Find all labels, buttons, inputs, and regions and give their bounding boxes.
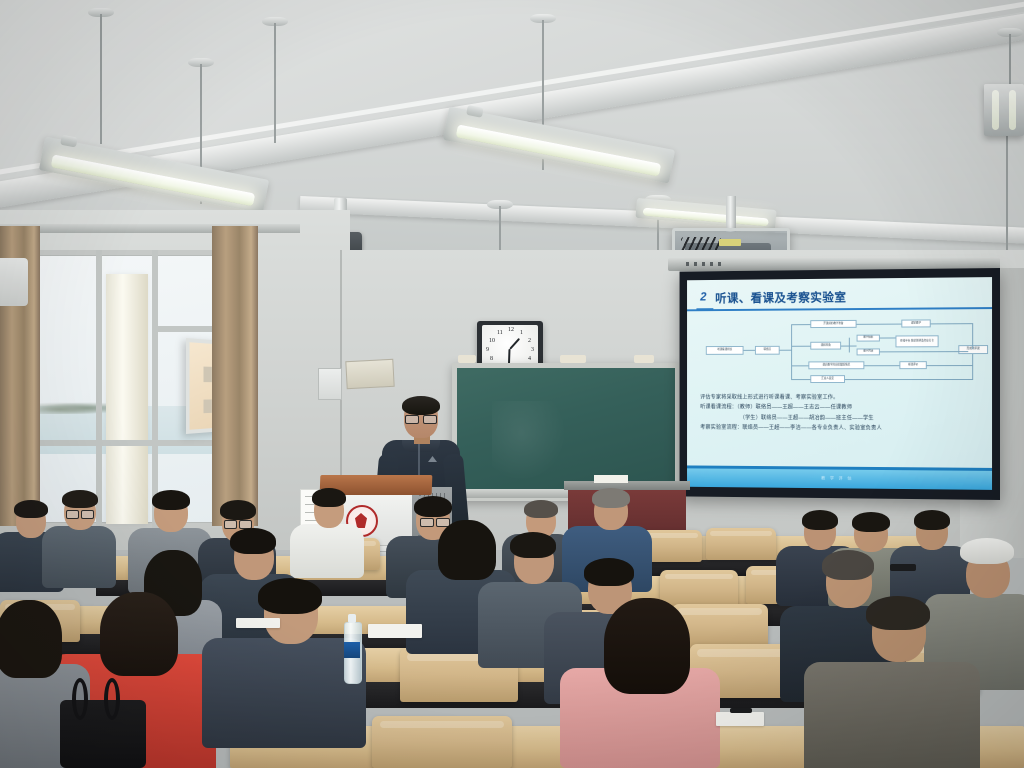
pendant-rod: [1006, 136, 1008, 260]
clock-number: 11: [497, 330, 503, 336]
flow-connector: [791, 365, 808, 366]
pendant-rod: [274, 23, 276, 143]
flow-connector: [927, 365, 972, 366]
flow-box: 课后教学的后续跟踪情况: [808, 361, 864, 369]
presenter-hair: [402, 396, 440, 415]
clock-number: 1: [520, 330, 523, 336]
eraser: [560, 355, 586, 363]
attendee-torso: [202, 638, 366, 748]
light-clip: [60, 135, 78, 148]
paper-on-desk[interactable]: [236, 618, 280, 628]
chair-back-front: [372, 716, 512, 768]
attendee-hair: [62, 490, 98, 508]
flow-connector: [791, 379, 810, 380]
attendee-white-cap: [960, 538, 1014, 564]
wall-speaker: [345, 359, 394, 389]
pen-on-desk[interactable]: [730, 708, 752, 713]
flow-box: 汇总人意见: [810, 375, 845, 383]
flow-box: 在线平台 随堂测评及作业打卡: [895, 335, 938, 347]
flow-connector: [931, 323, 972, 324]
footer-accent-line: [687, 465, 992, 470]
chair-back: [706, 528, 776, 560]
clock-number: 4: [528, 356, 531, 362]
attendee-torso: [42, 526, 116, 588]
slide-title-bar: 2 听课、看课及考察实验室: [695, 285, 985, 309]
flow-box: 课前准备: [810, 342, 841, 350]
wall-switch-box[interactable]: [318, 368, 342, 400]
slide-surface: 2 听课、看课及考察实验室 听课看课排班 联络员 开课前的教学准备 课前准备 教…: [687, 277, 992, 490]
slide-title: 听课、看课及考察实验室: [715, 288, 846, 306]
fluorescent-tube: [992, 90, 999, 130]
attendee-hair: [914, 510, 950, 530]
window-mullion: [96, 250, 102, 528]
glasses-lens: [423, 415, 437, 424]
attendee-hair: [220, 500, 256, 520]
projector-mount-pole: [726, 196, 736, 232]
attendee-hair: [414, 496, 452, 517]
window-mullion: [152, 250, 158, 528]
curtain-right[interactable]: [212, 226, 258, 526]
chair-highlight: [380, 721, 503, 728]
clock-number: 8: [490, 356, 493, 362]
flow-box: 教学内容: [857, 348, 880, 355]
projection-screen: 2 听课、看课及考察实验室 听课看课排班 联络员 开课前的教学准备 课前准备 教…: [680, 268, 1000, 500]
attendee-torso: [290, 524, 364, 578]
chair-back: [660, 570, 738, 608]
wall-vent: [0, 258, 28, 306]
flow-box: 听课看课排班: [706, 346, 744, 355]
slide-footer-text: 教 学 评 估: [687, 474, 992, 483]
attendee-long-hair: [100, 592, 178, 676]
flow-connector: [880, 337, 896, 338]
flow-box: 课堂教学: [901, 319, 930, 327]
chair-highlight: [665, 574, 734, 579]
phone-on-desk[interactable]: [890, 564, 916, 571]
attendee-hair: [510, 532, 556, 558]
sash-panel: [203, 399, 211, 413]
attendee-hair: [230, 528, 276, 554]
attendee-long-hair: [604, 598, 690, 694]
flow-box: 听课评价: [899, 361, 926, 369]
papers-on-cabinet: [594, 475, 628, 483]
clock-number: 9: [486, 347, 489, 353]
bag-handle: [104, 678, 120, 720]
flow-connector: [845, 379, 972, 380]
pendant-rod: [100, 14, 102, 144]
attendee-long-hair: [0, 600, 62, 678]
hanging-light-fixture: [984, 84, 1024, 136]
glasses-lens: [66, 510, 79, 519]
flow-connector: [744, 350, 755, 351]
notebook-on-desk[interactable]: [368, 624, 422, 638]
chair-highlight: [678, 608, 763, 614]
classroom-photo-scene: 12 1 2 3 4 5 6 7 8 9 10 11 2 听课、看课及考察实: [0, 0, 1024, 768]
attendee-hair: [152, 490, 190, 510]
flow-connector: [857, 324, 902, 325]
slide-body-text: 评估专家将采取线上形式进行听课看课、考察实验室工作。 听课看课流程：（教师）联络…: [700, 393, 982, 434]
clock-number: 12: [508, 327, 514, 333]
attendee-hair: [802, 510, 838, 530]
notebook-on-desk[interactable]: [716, 712, 764, 726]
attendee-hair: [524, 500, 558, 518]
pendant-rod: [1009, 34, 1011, 86]
slide-text-line: 听课看课流程：（教师）联络员——王超——王志云——任课教师: [700, 403, 982, 414]
clock-hour-hand: [509, 338, 520, 350]
projector-label: [719, 239, 741, 246]
flow-box: 开课前的教学准备: [810, 320, 856, 328]
chalk-piece: [634, 355, 654, 363]
flow-connector: [780, 350, 791, 351]
attendee-hair: [14, 500, 48, 518]
chalk-piece: [458, 355, 476, 363]
glasses-icon: [224, 520, 252, 527]
water-bottle[interactable]: [344, 610, 360, 682]
slide-footer-band: 教 学 评 估: [687, 465, 992, 489]
roller-control-dots: [686, 262, 726, 266]
glasses-icon: [420, 518, 450, 525]
fluorescent-tube: [1009, 90, 1016, 130]
slide-text-line: 评估专家将采取线上形式进行听课看课、考察实验室工作。: [700, 393, 982, 403]
bottle-label: [344, 642, 360, 658]
attendee-hair: [312, 488, 346, 507]
sash-panel: [203, 367, 211, 383]
flow-connector: [972, 354, 973, 380]
attendee-long-hair: [438, 520, 496, 580]
flow-box: 教学组织: [857, 335, 880, 342]
attendee-hair-gray: [592, 488, 630, 508]
flow-box: 形成听评课: [958, 345, 988, 354]
flow-connector: [880, 351, 968, 352]
slide-flowchart: 听课看课排班 联络员 开课前的教学准备 课前准备 教学组织 教学内容 课堂教学 …: [696, 315, 982, 385]
attendee-hair: [584, 558, 634, 586]
flow-connector: [791, 324, 792, 379]
flow-connector: [791, 346, 810, 347]
bag-handle: [72, 678, 88, 720]
attendee-hair: [258, 578, 322, 614]
glasses-lens: [405, 415, 419, 424]
chalk-smudge: [492, 401, 566, 480]
chair-highlight: [710, 531, 772, 535]
clock-number: 2: [528, 338, 531, 344]
attendee-hair: [852, 512, 890, 532]
flow-connector: [791, 324, 810, 325]
slide-number: 2: [700, 290, 706, 304]
flow-connector: [972, 323, 973, 349]
slide-text-line: 考察实验室流程：联络员——王超——李洁——各专业负责人、实验室负责人: [700, 423, 982, 434]
flow-connector: [849, 338, 850, 353]
clock-number: 3: [531, 347, 534, 353]
glasses-icon: [405, 415, 437, 422]
glasses-lens: [224, 520, 237, 529]
shoulder-bag[interactable]: [60, 700, 146, 768]
bottle-cap: [348, 614, 356, 623]
window-view-column: [106, 274, 148, 524]
glasses-lens: [420, 518, 434, 527]
attendee-torso: [804, 662, 980, 768]
light-clip: [466, 105, 484, 118]
flow-connector: [864, 365, 899, 366]
attendee-hair-gray: [822, 550, 874, 580]
flow-box: 联络员: [755, 346, 780, 355]
glasses-lens: [81, 510, 94, 519]
clock-number: 10: [489, 338, 495, 344]
glasses-icon: [66, 510, 94, 517]
attendee-hair: [866, 596, 930, 630]
